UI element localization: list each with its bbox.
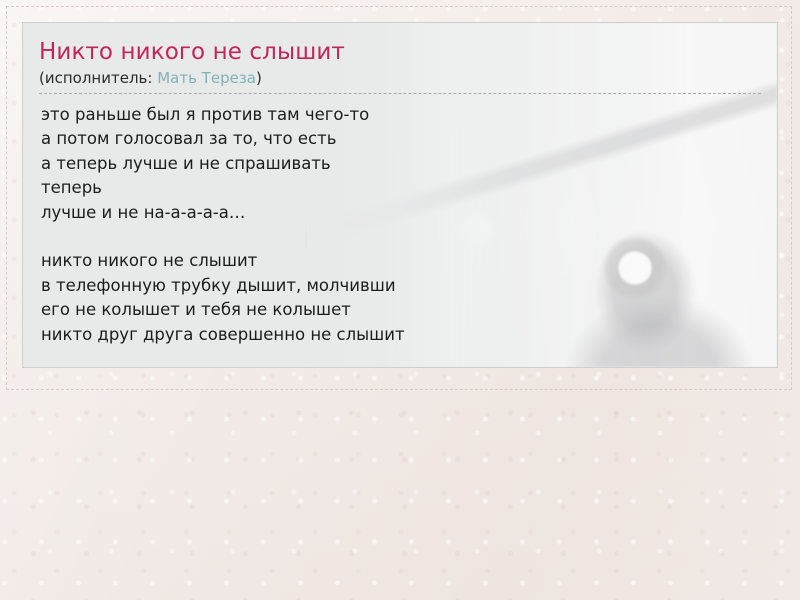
song-subtitle: (исполнитель: Мать Тереза) [39,68,761,94]
subtitle-suffix-text: ) [256,69,262,87]
lyrics-text: это раньше был я против там чего-то а по… [41,103,757,347]
lyrics-card: Никто никого не слышит (исполнитель: Мат… [22,22,778,368]
subtitle-prefix-text: (исполнитель: [39,69,157,87]
card-content: Никто никого не слышит (исполнитель: Мат… [23,23,777,347]
artist-link[interactable]: Мать Тереза [157,69,256,87]
song-title: Никто никого не слышит [39,37,757,67]
